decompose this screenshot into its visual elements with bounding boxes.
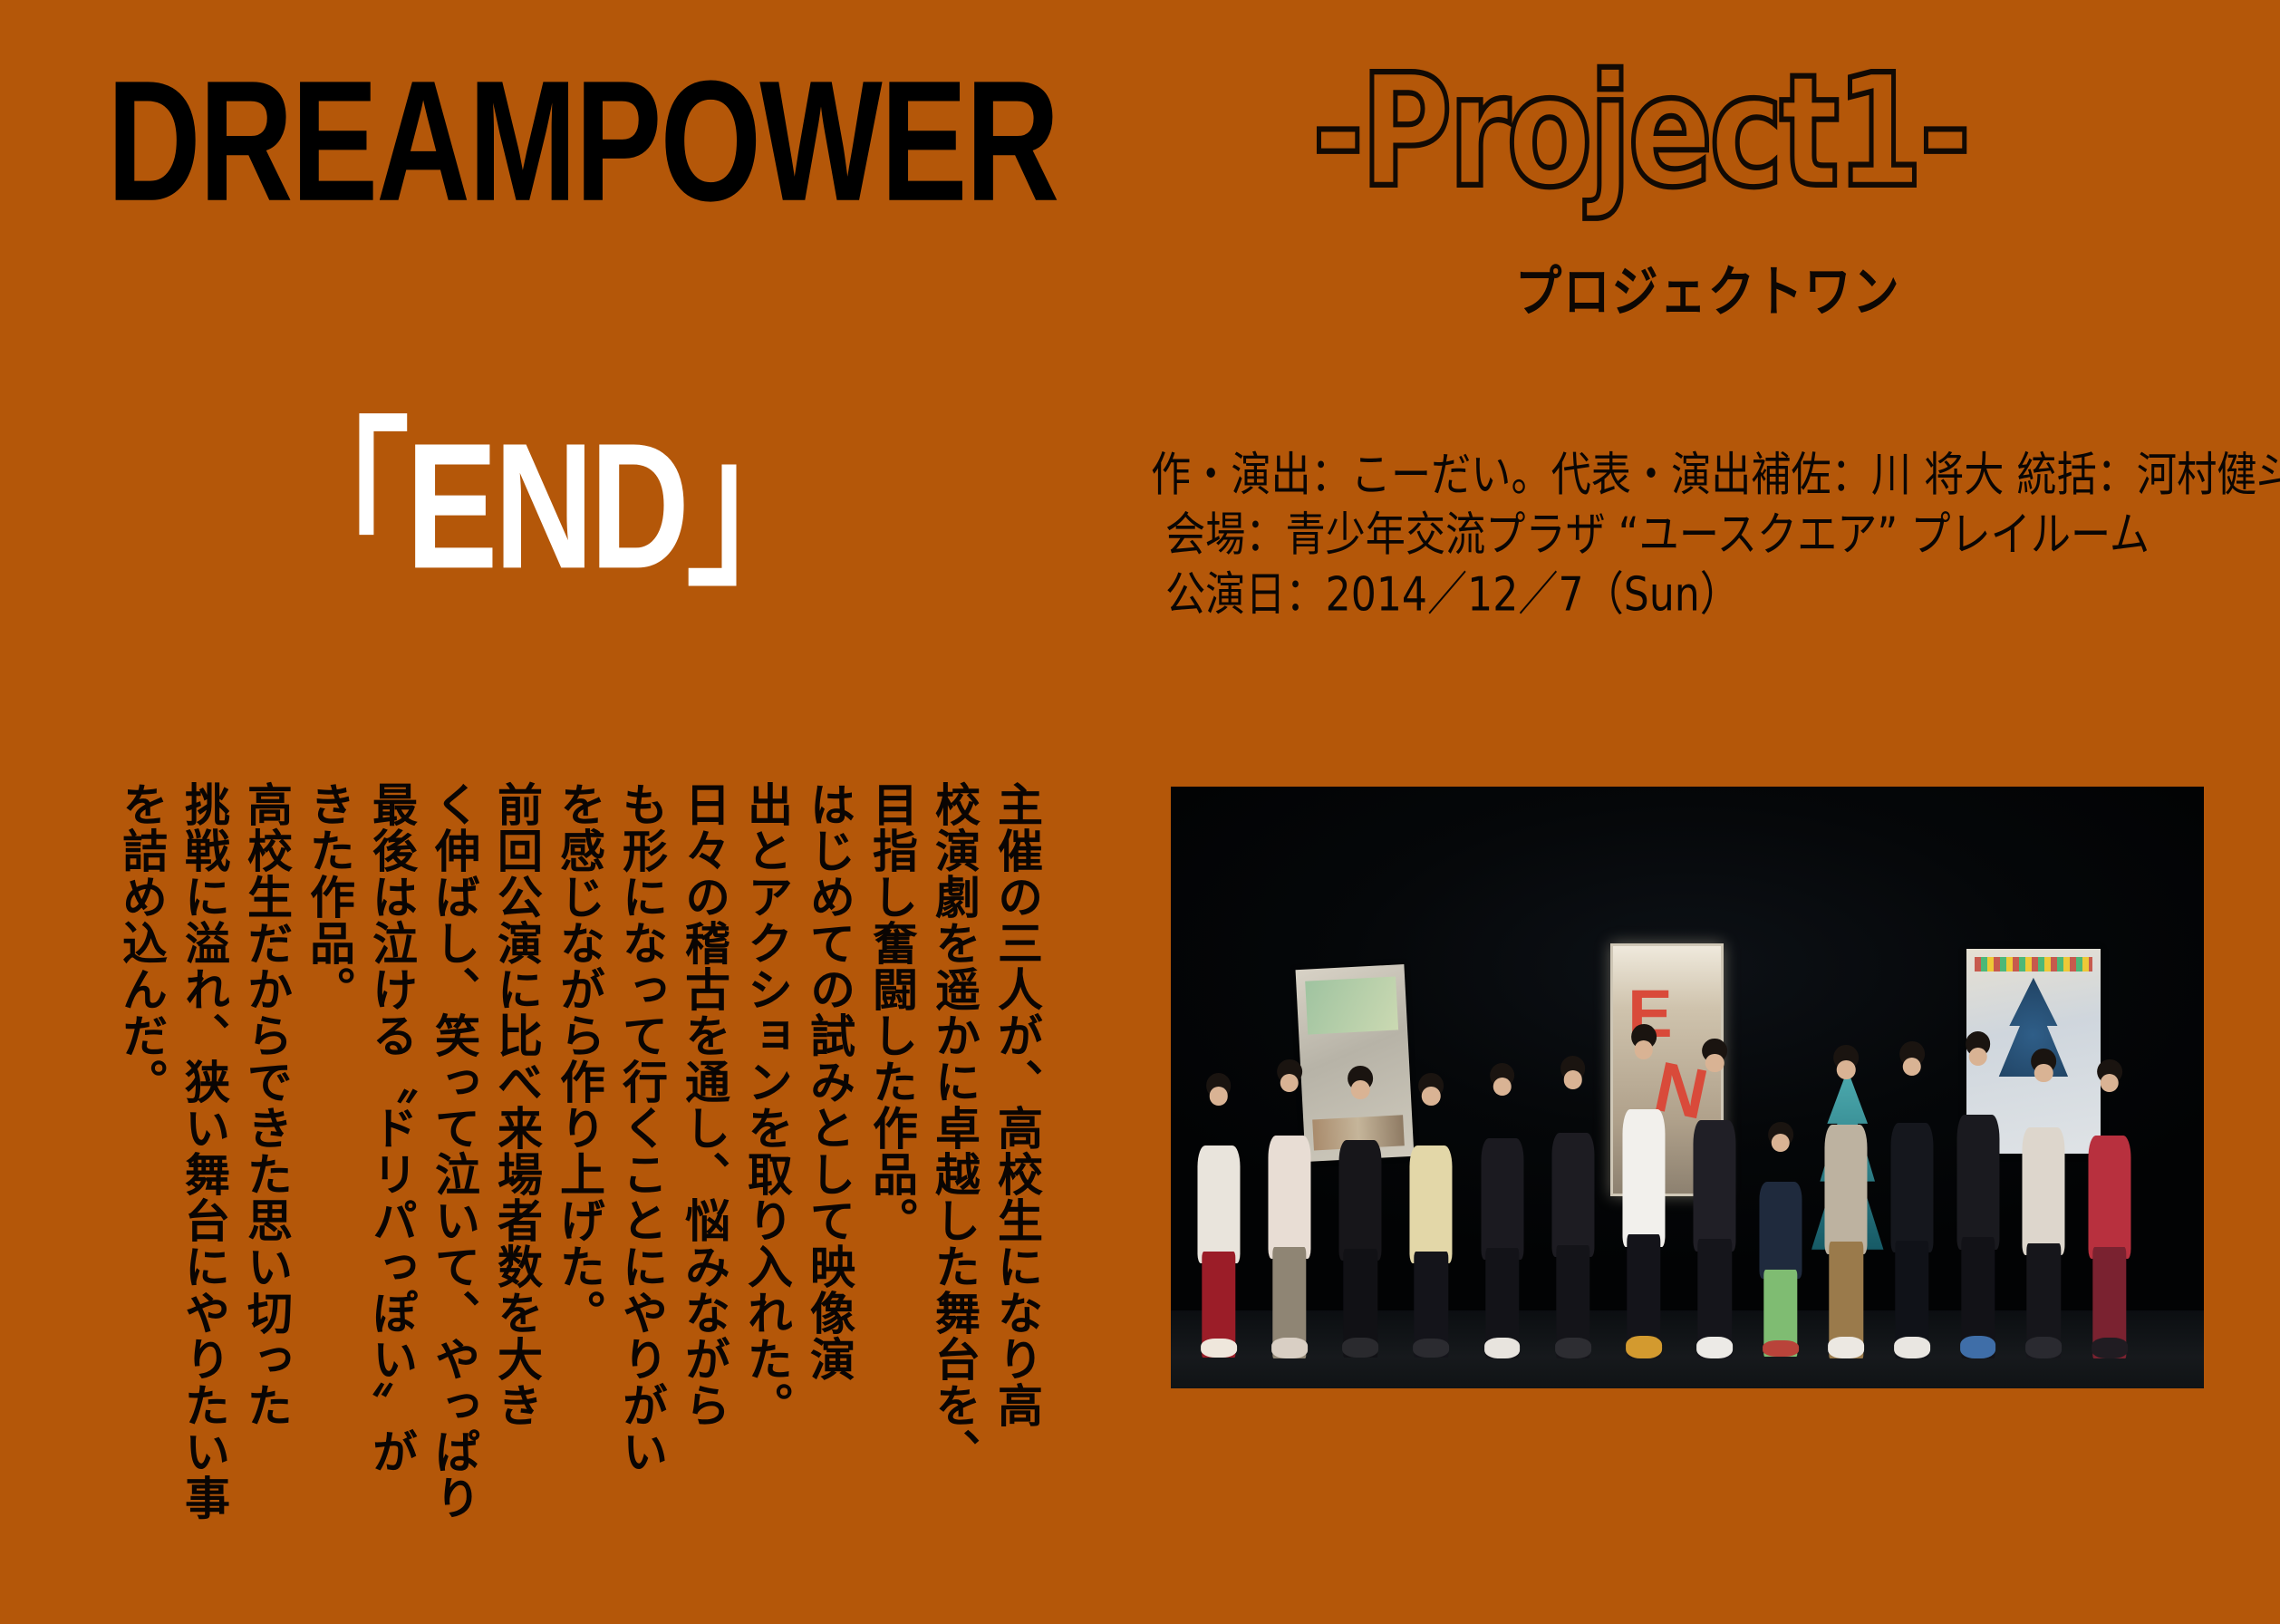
text-column: 日々の稽古を通し、悩みながら [672, 781, 735, 1416]
credit-line-date: 公演日：2014／12／7（Sun） [1165, 571, 2221, 618]
cast-torso [1197, 1145, 1240, 1262]
cast-shoes [1271, 1338, 1308, 1358]
text-column: 挑戦に溢れ、狭い舞台にやりたい事 [172, 781, 235, 1416]
cast-shoes [1413, 1339, 1449, 1358]
cast-shoes [1484, 1338, 1521, 1358]
cast-face [1493, 1078, 1512, 1097]
credits-block: 作・演出：こーだい。代表・演出補佐：川 将大 統括：河村健斗 会場：青少年交流プ… [1151, 451, 2266, 631]
cast-shoes [1960, 1336, 1996, 1358]
cast-torso [1622, 1109, 1665, 1247]
text-column: 最後は泣ける〝ドリパっぽい〟が [360, 781, 422, 1416]
cast-group [1181, 1003, 2193, 1352]
text-column: はじめての試みとして映像演 [797, 781, 860, 1416]
cast-member [1687, 1039, 1742, 1353]
cast-torso [1339, 1140, 1382, 1261]
cast-member [1192, 1073, 1246, 1352]
cast-member [1262, 1059, 1317, 1352]
cast-shoes [1342, 1338, 1378, 1358]
text-column: 目指し奮闘した作品。 [860, 781, 923, 1416]
cast-face [1968, 1048, 1987, 1067]
cast-face [2101, 1074, 2120, 1093]
cast-face [1563, 1070, 1582, 1089]
cast-shoes [1828, 1337, 1864, 1358]
cast-shoes [1763, 1340, 1799, 1357]
cast-shoes [1626, 1336, 1662, 1358]
cast-member [1474, 1063, 1529, 1353]
cast-member [1885, 1041, 1939, 1352]
cast-torso [1268, 1136, 1310, 1259]
cast-shoes [2092, 1338, 2128, 1358]
text-column: を感じながら作り上げた。 [547, 781, 610, 1416]
cast-member [1404, 1073, 1458, 1352]
cast-torso [1481, 1138, 1523, 1260]
cast-face [1280, 1074, 1299, 1093]
page-title: DREAMPOWER [107, 56, 1058, 227]
cast-torso [1759, 1182, 1802, 1279]
cast-face [1351, 1080, 1370, 1099]
cast-shoes [1894, 1337, 1930, 1358]
poster-header: DREAMPOWER -Project1- プロジェクトワン [0, 0, 2280, 245]
cast-torso [2023, 1127, 2065, 1255]
cast-torso [1825, 1125, 1868, 1253]
credit-line-venue: 会場：青少年交流プラザ “ユースクエア” プレイルーム [1165, 511, 2221, 558]
cast-torso [1410, 1145, 1453, 1262]
cast-shoes [1696, 1337, 1733, 1358]
cast-face [1422, 1087, 1441, 1106]
cast-torso [1694, 1120, 1736, 1252]
cast-face [1772, 1134, 1791, 1153]
text-column: を詰め込んだ。 [110, 781, 172, 1416]
cast-torso [1890, 1123, 1933, 1253]
cast-torso [1956, 1115, 1999, 1250]
show-title: 「END」 [272, 417, 820, 596]
production-photo: E N [1171, 787, 2204, 1388]
cast-face [1705, 1054, 1724, 1073]
cast-face [1209, 1087, 1228, 1106]
cast-torso [2088, 1136, 2130, 1259]
cast-face [1635, 1040, 1654, 1059]
text-column: く伸ばし、笑って泣いて、やっぱり [422, 781, 485, 1416]
text-column: きた作品。 [297, 781, 360, 1416]
cast-shoes [2025, 1337, 2062, 1358]
cast-member [1950, 1031, 2005, 1352]
credit-line-staff: 作・演出：こーだい。代表・演出補佐：川 将大 統括：河村健斗 [1151, 451, 2221, 498]
cast-member [1546, 1056, 1600, 1352]
cast-torso [1551, 1133, 1594, 1257]
cast-member [1333, 1066, 1387, 1352]
cast-shoes [1201, 1339, 1237, 1358]
description-body: 主催の三人が、高校生になり高 校演劇を遥かに卓越した舞台を、 目指し奮闘した作品… [110, 781, 1048, 1416]
text-column: 前回公演に比べ来場者数を大き [485, 781, 547, 1416]
project-kana-subtitle: プロジェクトワン [1515, 265, 1901, 319]
cast-member [2082, 1059, 2137, 1352]
text-column: 出とアクションを取り入れた。 [735, 781, 797, 1416]
cast-member [1819, 1045, 1873, 1352]
text-column: 高校生だからできた思い切った [235, 781, 297, 1416]
cast-member [2016, 1049, 2071, 1352]
text-column: 校演劇を遥かに卓越した舞台を、 [923, 781, 985, 1416]
project-label: -Project1- [1312, 54, 1967, 209]
text-column: も形になって行くことにやりがい [610, 781, 672, 1416]
cast-member [1617, 1024, 1671, 1352]
cast-member [1753, 1122, 1808, 1352]
cast-shoes [1555, 1338, 1591, 1358]
cast-face [1903, 1058, 1922, 1077]
cast-face [1837, 1060, 1856, 1079]
cast-face [2034, 1064, 2053, 1083]
text-column: 主催の三人が、高校生になり高 [985, 781, 1048, 1416]
